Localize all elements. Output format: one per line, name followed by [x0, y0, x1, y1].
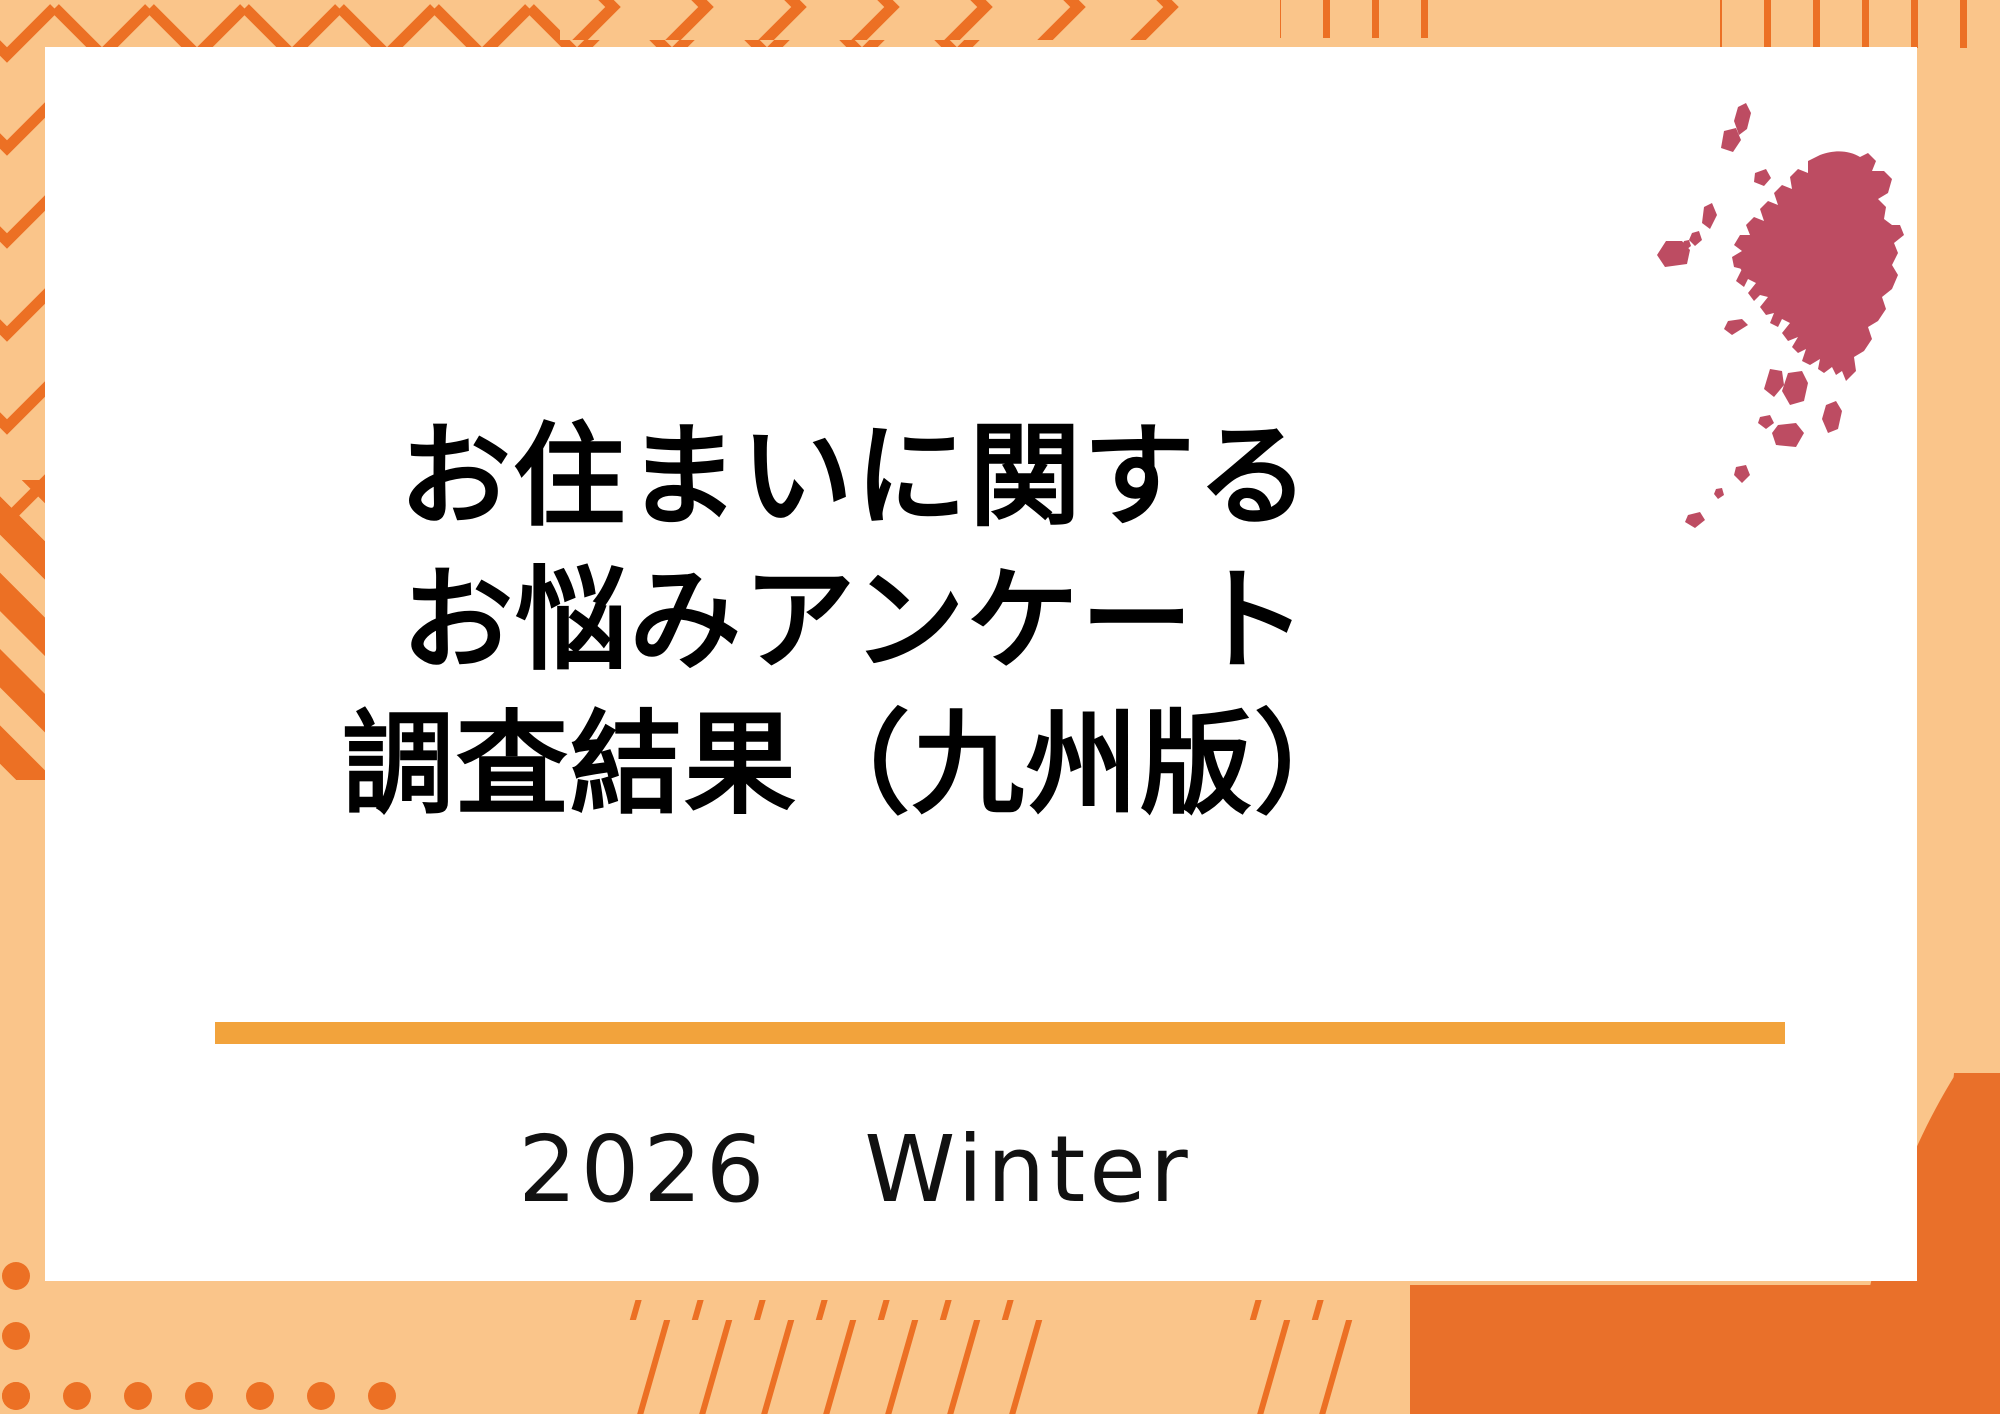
season-label: 2026 Winter: [45, 1115, 1665, 1225]
orange-rule: [215, 1022, 1785, 1044]
title-line-2: お悩みアンケート: [45, 549, 1665, 693]
page-title: お住まいに関する お悩みアンケート 調査結果（九州版）: [45, 405, 1665, 837]
title-line-1: お住まいに関する: [45, 405, 1665, 549]
season-text: 2026 Winter: [45, 1115, 1665, 1225]
title-line-3: 調査結果（九州版）: [45, 693, 1665, 837]
